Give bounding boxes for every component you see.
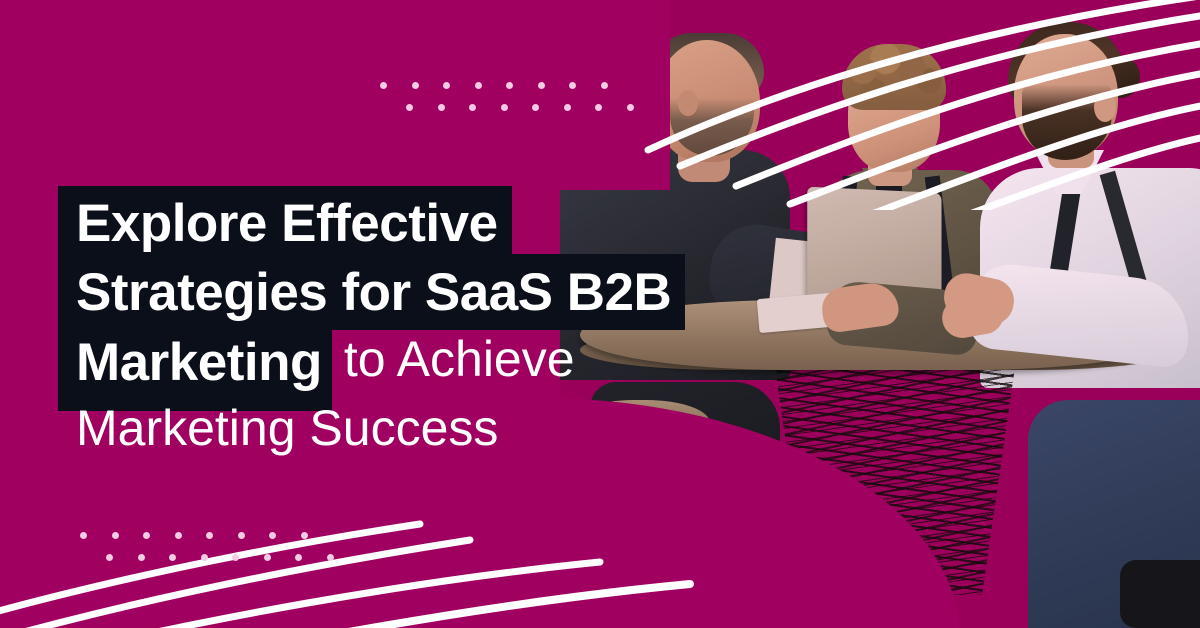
headline-line-3: Marketingto Achieve (0, 324, 760, 411)
dot (269, 532, 276, 539)
blog-banner: Explore Effective Strategies for SaaS B2… (0, 0, 1200, 628)
dot (538, 82, 545, 89)
dot (143, 532, 150, 539)
dot-row (80, 532, 334, 539)
dot (412, 82, 419, 89)
dot (201, 554, 208, 561)
dot (80, 532, 87, 539)
dot (264, 554, 271, 561)
dot (469, 104, 476, 111)
dot-grid-bottom (80, 532, 334, 561)
dot (295, 554, 302, 561)
person-left-ear (678, 90, 698, 116)
dot-row (106, 554, 334, 561)
headline-line-3-light-text: to Achieve (332, 331, 575, 387)
headline: Explore Effective Strategies for SaaS B2… (0, 186, 760, 453)
dot (175, 532, 182, 539)
dot (232, 554, 239, 561)
dot (475, 82, 482, 89)
dot (532, 104, 539, 111)
dot (327, 554, 334, 561)
dot (301, 532, 308, 539)
person-right-ear (1094, 92, 1116, 122)
dot (169, 554, 176, 561)
dot (380, 82, 387, 89)
dot (443, 82, 450, 89)
headline-line-2: Strategies for SaaS B2B (0, 254, 760, 330)
headline-line-2-text: Strategies for SaaS B2B (58, 254, 685, 330)
dot (506, 82, 513, 89)
headline-line-1-text: Explore Effective (58, 186, 512, 260)
headline-line-4-text: Marketing Success (76, 403, 760, 453)
dot (438, 104, 445, 111)
dot (106, 554, 113, 561)
dot (112, 532, 119, 539)
headline-line-1: Explore Effective (0, 186, 760, 260)
dot (501, 104, 508, 111)
dot (406, 104, 413, 111)
headline-line-3-bold-text: Marketing (58, 324, 332, 411)
photo-mask-top (560, 0, 670, 190)
dot (206, 532, 213, 539)
person-right-shoe (1120, 560, 1200, 628)
dot (138, 554, 145, 561)
dot (238, 532, 245, 539)
